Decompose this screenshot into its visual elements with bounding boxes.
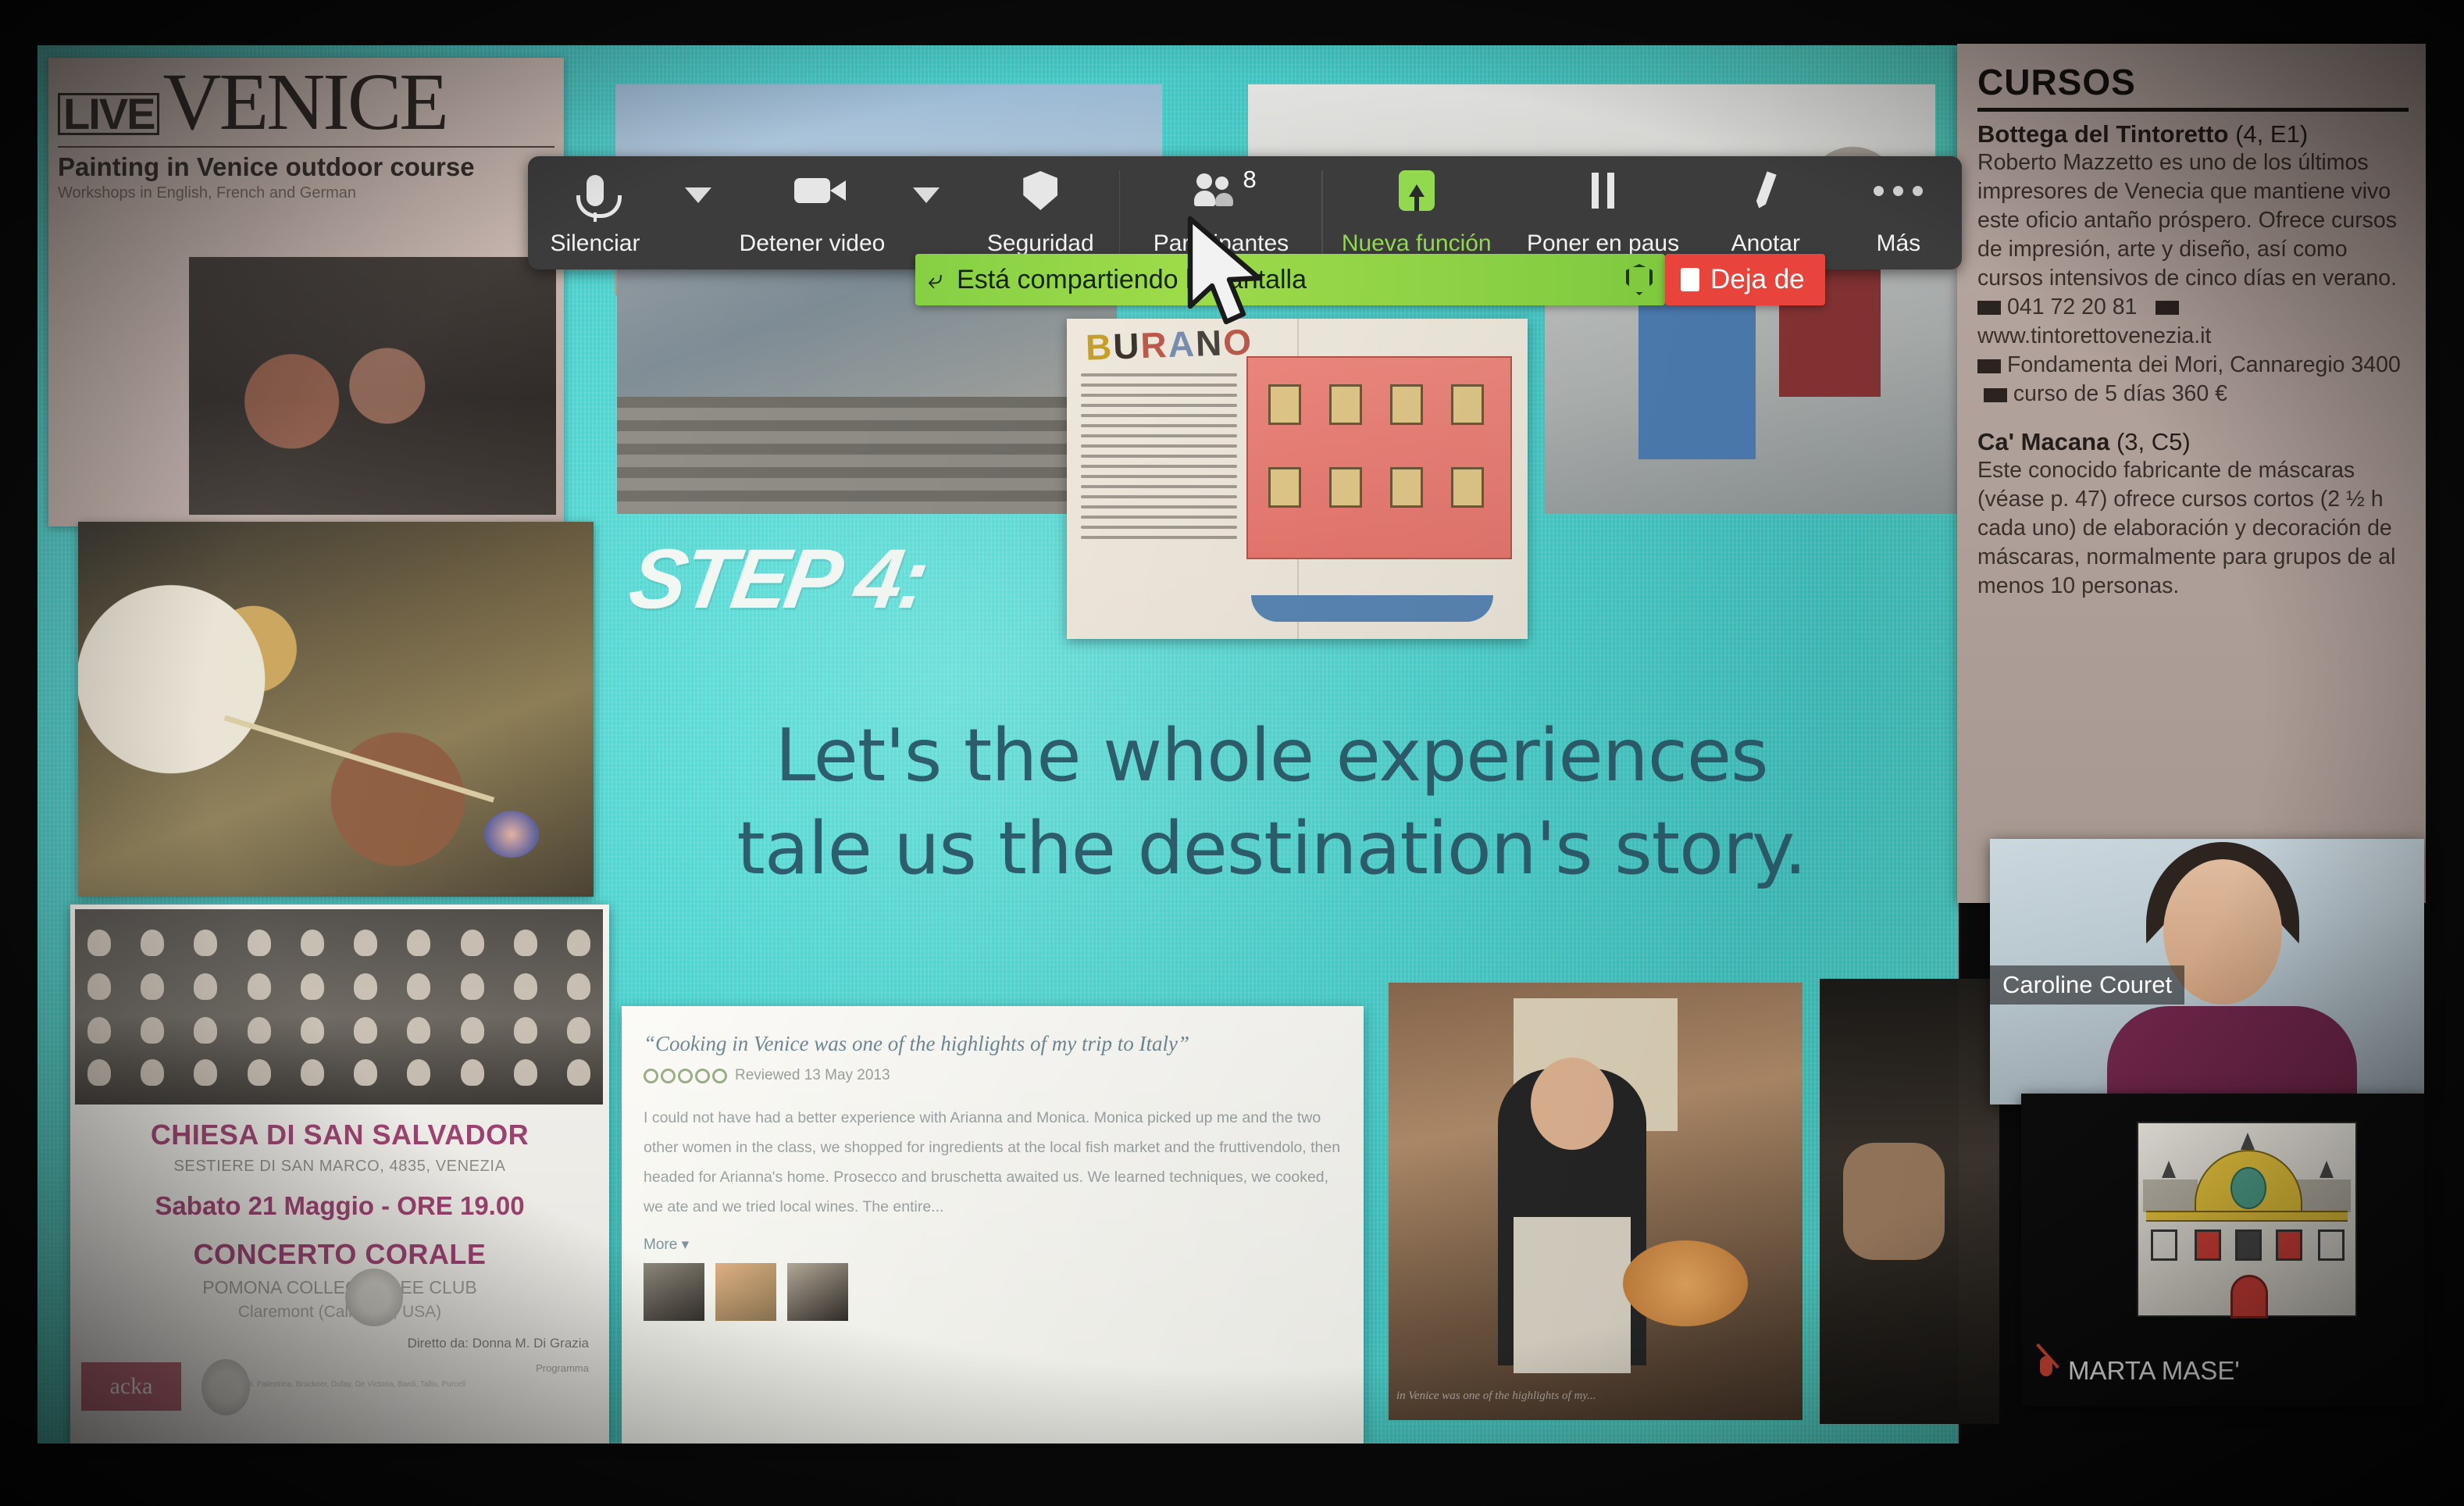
toolbar-security-button[interactable]: Seguridad (962, 156, 1119, 269)
newspaper-photo (189, 257, 556, 515)
toolbar-stop-video-button[interactable]: Detener video (734, 156, 891, 269)
pink-house-drawing (1246, 356, 1512, 559)
participant-name-label: Caroline Couret (1990, 965, 2184, 1005)
hands-detail-photo (1820, 979, 1999, 1424)
sketch-letter: R (1140, 324, 1169, 366)
entry-ref: (3, C5) (2116, 428, 2191, 455)
cursos-entry-title-0: Bottega del Tintoretto (4, E1) (1977, 121, 2409, 148)
poster-title: CONCERTO CORALE (70, 1238, 609, 1271)
mic-muted-icon (2035, 1356, 2057, 1386)
pause-icon (1592, 169, 1614, 212)
toolbar-mute-caret[interactable] (662, 156, 734, 269)
slide-headline: Let's the whole experiences tale us the … (631, 709, 1912, 895)
dome-oval (2230, 1167, 2266, 1209)
poster-director: Diretto da: Donna M. Di Grazia (70, 1336, 609, 1351)
poster-group: POMONA COLLEGE GLEE CLUB (70, 1277, 609, 1298)
toolbar-security-label: Seguridad (987, 230, 1094, 257)
poster-seal-top (345, 1269, 403, 1326)
glassblowing-photo (78, 522, 594, 897)
toolbar-new-feature-label: Nueva función (1342, 230, 1492, 257)
toolbar-new-feature-button[interactable]: Nueva función (1323, 156, 1510, 269)
microphone-icon (587, 169, 604, 212)
hand (1843, 1143, 1945, 1260)
poster-venue: CHIESA DI SAN SALVADOR (70, 1119, 609, 1151)
toolbar-annotate-button[interactable]: Anotar (1696, 156, 1835, 269)
monitor-icon (2156, 301, 2179, 315)
participant-tile-caroline[interactable]: Caroline Couret (1990, 839, 2424, 1105)
toolbar-mute-label: Silenciar (550, 230, 640, 257)
toolbar-more-button[interactable]: Más (1835, 156, 1962, 269)
newspaper-subheadline: Workshops in English, French and German (48, 181, 564, 210)
review-thumbnails[interactable] (622, 1254, 1364, 1321)
stop-square-icon (1681, 268, 1699, 291)
entrance-arch (2230, 1275, 2268, 1319)
chevron-down-icon (685, 187, 711, 203)
avatar-body (2107, 1006, 2357, 1105)
cook-apron (1514, 1217, 1631, 1373)
entry-title-text: Bottega del Tintoretto (1977, 120, 2228, 148)
cook-photo-caption: in Venice was one of the highlights of m… (1396, 1390, 1596, 1403)
newspaper-clipping: LIVE VENICE Painting in Venice outdoor c… (48, 58, 564, 526)
toolbar-mute-button[interactable]: Silenciar (528, 156, 662, 269)
cursos-entry-body-0: Roberto Mazzetto es uno de los últimos i… (1977, 148, 2409, 293)
student-figure-a (1639, 280, 1756, 459)
website-url: www.tintorettovenezia.it (1977, 323, 2211, 348)
stone-steps (617, 397, 1117, 514)
review-body: I could not have had a better experience… (622, 1084, 1364, 1222)
masthead-venice: VENICE (162, 69, 446, 135)
toolbar-stop-video-label: Detener video (740, 230, 886, 257)
review-date: Reviewed 13 May 2013 (735, 1067, 890, 1084)
back-arrow-icon[interactable]: ⤶ (928, 265, 943, 295)
cursos-entry-phone-0: 041 72 20 81 www.tintorettovenezia.it (1977, 293, 2409, 351)
cursos-heading: CURSOS (1977, 61, 2409, 103)
cursos-entry-address-0: Fondamenta dei Mori, Cannaregio 3400 cur… (1977, 351, 2409, 409)
participants-count-badge: 8 (1243, 166, 1256, 194)
participants-icon (1196, 169, 1245, 212)
pencil-icon (1760, 169, 1770, 212)
participant-name-label: MARTA MASE' (2068, 1356, 2240, 1386)
camera-icon (794, 169, 830, 212)
toolbar-more-label: Más (1876, 230, 1920, 257)
masthead-live: LIVE (58, 93, 159, 135)
screenshot-root: LIVE VENICE Painting in Venice outdoor c… (0, 0, 2464, 1506)
participant-tile-marta[interactable]: MARTA MASE' (2021, 1094, 2424, 1406)
mouse-cursor (1184, 216, 1278, 333)
newspaper-headline: Painting in Venice outdoor course (48, 154, 564, 181)
blowpipe (224, 716, 494, 803)
cooking-class-photo: in Venice was one of the highlights of m… (1389, 983, 1803, 1420)
shield-icon (1023, 169, 1057, 212)
share-screen-up-arrow-icon (1399, 169, 1435, 212)
entry-ref: (4, E1) (2235, 120, 2308, 148)
burano-sketchbook: BURANO (1067, 319, 1528, 639)
toolbar-pause-button[interactable]: Poner en paus (1510, 156, 1696, 269)
more-dots-icon (1874, 169, 1923, 212)
cursos-entry-1: Ca' Macana (3, C5) Este conocido fabrica… (1977, 429, 2409, 601)
concert-poster: CHIESA DI SAN SALVADOR SESTIERE DI SAN M… (70, 905, 609, 1444)
cook-face (1531, 1058, 1614, 1150)
toolbar-annotate-label: Anotar (1731, 230, 1800, 257)
bread-basket (1623, 1240, 1748, 1326)
molten-glass (484, 811, 539, 858)
poster-sponsor-logo: acka (81, 1362, 181, 1411)
review-card: “Cooking in Venice was one of the highli… (622, 1006, 1364, 1444)
participant-name-row-marta: MARTA MASE' (2035, 1356, 2240, 1386)
cursos-guidebook-page: CURSOS Bottega del Tintoretto (4, E1) Ro… (1957, 44, 2426, 903)
address-text: Fondamenta dei Mori, Cannaregio 3400 (2007, 352, 2401, 377)
poster-address: SESTIERE DI SAN MARCO, 4835, VENEZIA (70, 1158, 609, 1176)
newspaper-masthead: LIVE VENICE (48, 58, 564, 138)
handwritten-notes (1081, 373, 1237, 546)
roof-left (2143, 1179, 2198, 1212)
poster-origin: Claremont (California, USA) (70, 1303, 609, 1322)
sketch-letter: B (1085, 327, 1114, 368)
stop-share-button[interactable]: Deja de (1665, 254, 1825, 305)
sketch-letter: U (1112, 325, 1141, 366)
phone-icon (1977, 301, 2001, 315)
poster-seal-bottom (201, 1359, 250, 1415)
cursos-rule (1977, 108, 2409, 112)
headline-line-1: Let's the whole experiences (631, 709, 1912, 802)
facade-band (2146, 1211, 2348, 1222)
rating-dots-icon (644, 1069, 727, 1083)
roof-right (2296, 1179, 2351, 1212)
phone-number: 041 72 20 81 (2007, 294, 2137, 319)
chevron-down-icon (913, 187, 940, 203)
stop-share-label: Deja de (1710, 264, 1805, 295)
shield-check-icon (1626, 264, 1653, 295)
toolbar-pause-label: Poner en paus (1527, 230, 1679, 257)
shared-drawing (2137, 1122, 2357, 1317)
map-icon (1977, 359, 2001, 373)
review-quote: “Cooking in Venice was one of the highli… (622, 1006, 1364, 1056)
review-meta: Reviewed 13 May 2013 (622, 1056, 1364, 1084)
price-text: curso de 5 días 360 € (2013, 381, 2227, 406)
cursos-entry-title-1: Ca' Macana (3, C5) (1977, 429, 2409, 456)
review-more-link[interactable]: More ▾ (622, 1222, 1364, 1254)
step-label: STEP 4: (623, 530, 932, 627)
entry-title-text: Ca' Macana (1977, 428, 2109, 455)
headline-line-2: tale us the destination's story. (631, 802, 1912, 895)
toolbar-video-caret[interactable] (890, 156, 962, 269)
poster-datetime: Sabato 21 Maggio - ORE 19.00 (70, 1191, 609, 1221)
choir-photo (75, 909, 603, 1105)
cursos-entry-body-1: Este conocido fabricante de máscaras (vé… (1977, 456, 2409, 601)
euro-icon (1984, 388, 2007, 402)
sharing-status-banner: ⤶ Está compartiendo la pantalla (915, 254, 1665, 305)
boat-drawing (1251, 595, 1493, 622)
